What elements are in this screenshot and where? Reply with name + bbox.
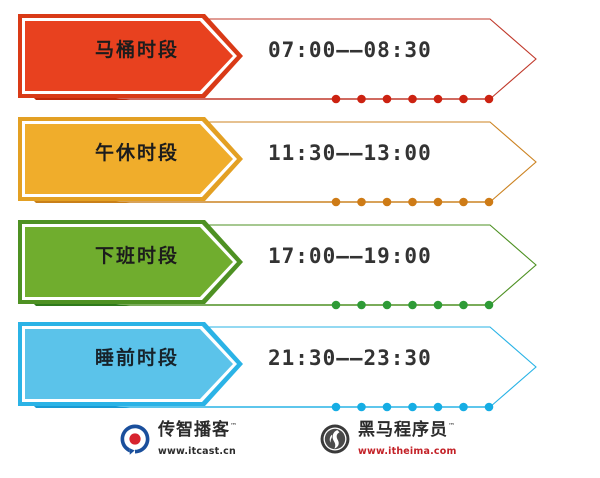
itcast-logo-url: www.itcast.cn <box>158 445 238 458</box>
itcast-logo-text: 传智播客™ www.itcast.cn <box>158 420 238 458</box>
label-banner <box>18 14 243 98</box>
itcast-trademark: ™ <box>230 422 238 430</box>
row-arrow-svg <box>0 111 600 213</box>
timeline-dot <box>434 301 443 310</box>
schedule-row-row-morning[interactable]: 马桶时段 07:00——08:30 <box>0 8 600 110</box>
timeline-dot <box>459 403 468 412</box>
timeline-dot <box>408 95 417 104</box>
row-graphic <box>0 111 600 213</box>
schedule-row-row-bedtime[interactable]: 睡前时段 21:30——23:30 <box>0 316 600 418</box>
row-arrow-svg <box>0 214 600 316</box>
schedule-row-row-offwork[interactable]: 下班时段 17:00——19:00 <box>0 214 600 316</box>
row-arrow-svg <box>0 8 600 110</box>
timeline-dot <box>459 301 468 310</box>
row-graphic <box>0 8 600 110</box>
label-banner <box>18 322 243 406</box>
timeline-dot <box>357 301 366 310</box>
timeline-dot <box>485 198 494 207</box>
timeline-dot <box>408 198 417 207</box>
timeline-dot <box>459 198 468 207</box>
itcast-logo-name: 传智播客™ <box>158 420 238 443</box>
footer-logos: 传智播客™ www.itcast.cn 黑马程序员™ www.itheima.c… <box>0 420 600 478</box>
itheima-logo-text: 黑马程序员™ www.itheima.com <box>358 420 457 458</box>
infographic-stage: 马桶时段 07:00——08:30 <box>0 0 600 478</box>
timeline-dot <box>383 301 392 310</box>
row-arrow-svg <box>0 316 600 418</box>
timeline-dot <box>332 198 341 207</box>
row-graphic <box>0 316 600 418</box>
timeline-dot <box>357 95 366 104</box>
itcast-logo[interactable]: 传智播客™ www.itcast.cn <box>118 420 238 470</box>
itheima-horse-logo-icon <box>318 422 352 456</box>
itheima-logo-url: www.itheima.com <box>358 445 457 458</box>
timeline-dot <box>459 95 468 104</box>
banner-fill <box>25 124 233 194</box>
label-banner <box>18 117 243 201</box>
timeline-dot <box>485 403 494 412</box>
timeline-dot <box>357 403 366 412</box>
timeline-dot <box>383 403 392 412</box>
itheima-trademark: ™ <box>448 422 456 430</box>
timeline-dot <box>332 95 341 104</box>
timeline-dot <box>434 95 443 104</box>
itcast-name-cn: 传智播客 <box>158 420 230 440</box>
timeline-dot <box>383 198 392 207</box>
banner-fill <box>25 227 233 297</box>
itcast-logo-dot <box>129 433 140 444</box>
itheima-name-cn: 黑马程序员 <box>358 420 448 440</box>
timeline-dot <box>332 403 341 412</box>
timeline-dot <box>485 95 494 104</box>
timeline-dot <box>408 403 417 412</box>
itheima-logo[interactable]: 黑马程序员™ www.itheima.com <box>318 420 457 470</box>
schedule-row-row-lunch[interactable]: 午休时段 11:30——13:00 <box>0 111 600 213</box>
timeline-dot <box>408 301 417 310</box>
itheima-logo-name: 黑马程序员™ <box>358 420 457 443</box>
timeline-dot <box>332 301 341 310</box>
timeline-dot <box>357 198 366 207</box>
row-graphic <box>0 214 600 316</box>
timeline-dot <box>485 301 494 310</box>
itcast-logo-icon <box>118 422 152 456</box>
timeline-dot <box>434 403 443 412</box>
label-banner <box>18 220 243 304</box>
timeline-dot <box>383 95 392 104</box>
timeline-dot <box>434 198 443 207</box>
banner-fill <box>25 329 233 399</box>
banner-fill <box>25 21 233 91</box>
